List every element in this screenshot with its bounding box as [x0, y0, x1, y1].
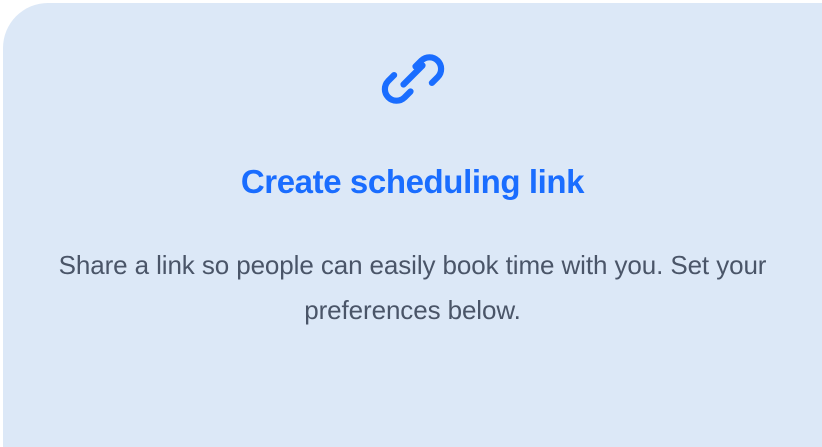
link-icon-container [3, 51, 822, 107]
page-description: Share a link so people can easily book t… [18, 243, 808, 333]
scheduling-link-panel: Create scheduling link Share a link so p… [3, 3, 822, 447]
description-line-1: Share a link so people can easily book t… [59, 250, 709, 280]
page-title: Create scheduling link [3, 161, 822, 203]
link-icon [381, 51, 445, 107]
